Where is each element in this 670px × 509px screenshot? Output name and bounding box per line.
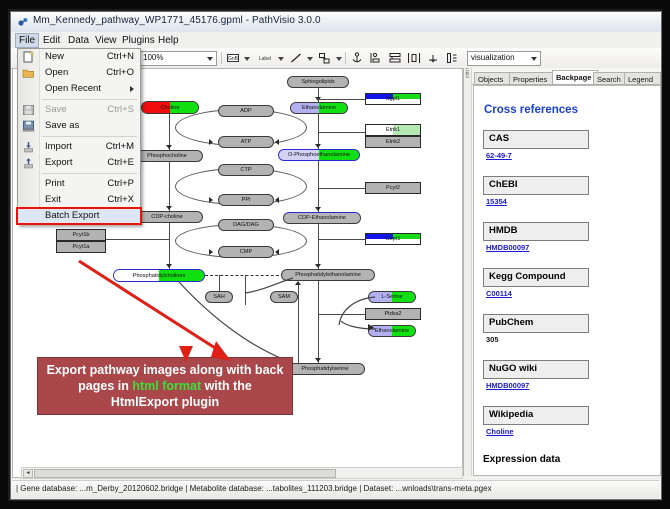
menu-item-label: Open Recent xyxy=(45,81,101,97)
zoom-combo[interactable]: 100% xyxy=(139,51,217,66)
arrowhead-icon xyxy=(209,197,213,203)
canvas-horizontal-scrollbar[interactable]: ◄ xyxy=(21,467,463,479)
gene-label: Sgpl1 xyxy=(386,96,400,102)
arrowhead-icon xyxy=(315,144,321,148)
xref-header-nugo-wiki: NuGO wiki xyxy=(483,360,589,379)
pathway-node-cdp-etn[interactable]: CDP-Ethanolamine xyxy=(283,212,361,224)
status-text: | Gene database: ...m_Derby_20120602.bri… xyxy=(16,484,492,493)
interaction-tool-icon[interactable] xyxy=(318,51,332,65)
xref-name: Kegg Compound xyxy=(489,271,566,282)
callout-line2-before: pages in xyxy=(78,379,132,393)
edge-sgpl1-to-backbone xyxy=(318,99,365,100)
arrowhead-icon xyxy=(275,249,279,255)
menu-separator xyxy=(42,173,137,174)
open-folder-icon xyxy=(22,67,35,79)
pathway-gene-sgpl1[interactable]: Sgpl1 xyxy=(365,93,421,105)
menu-item-accelerator: Ctrl+M xyxy=(106,139,134,155)
node-label: Phosphatidylserine xyxy=(301,366,348,372)
pathvisio-icon xyxy=(17,16,29,28)
horizontal-scroll-thumb[interactable] xyxy=(34,469,336,478)
arrowhead-icon xyxy=(209,139,213,145)
xref-value-chebi[interactable]: 15354 xyxy=(486,197,507,206)
menu-item-label: Exit xyxy=(45,192,61,208)
edge-etnk-to-backbone xyxy=(318,132,365,133)
svg-text:Label: Label xyxy=(259,56,271,62)
node-label: Choline xyxy=(161,105,180,111)
pathway-gene-cept1[interactable]: Cept1 xyxy=(365,233,421,245)
toolbar-separator xyxy=(345,52,346,64)
menu-item-save: SaveCtrl+S xyxy=(18,102,140,118)
submenu-arrow-icon xyxy=(130,86,134,92)
screenshot-root: Mm_Kennedy_pathway_WP1771_45176.gpml - P… xyxy=(0,0,670,509)
pathway-node-atp[interactable]: ATP xyxy=(218,136,274,148)
menu-item-label: Open xyxy=(45,65,68,81)
menu-item-export[interactable]: ExportCtrl+E xyxy=(18,155,140,171)
gene-label: Etnk1 xyxy=(386,127,400,133)
arrowhead-icon xyxy=(315,358,321,362)
side-panel: ⣿⣿ Objects Properties Backpage Search Le… xyxy=(463,68,661,476)
edge-cdpetn-ptdetn xyxy=(318,224,319,269)
menu-item-label: New xyxy=(45,49,64,65)
menu-item-accelerator: Ctrl+S xyxy=(107,102,134,118)
menu-item-accelerator: Ctrl+E xyxy=(107,155,134,171)
menu-bar: File Edit Data View Plugins Help xyxy=(11,32,661,49)
menu-edit[interactable]: Edit xyxy=(39,34,64,47)
menu-item-exit[interactable]: ExitCtrl+X xyxy=(18,192,140,208)
menu-plugins[interactable]: Plugins xyxy=(118,34,159,47)
menu-file[interactable]: File xyxy=(15,33,39,48)
gene-label: Ptdss2 xyxy=(384,311,401,317)
arrowhead-icon xyxy=(315,264,321,268)
menu-separator xyxy=(42,136,137,137)
xref-header-pubchem: PubChem xyxy=(483,314,589,333)
callout-highlight: html format xyxy=(132,379,201,393)
import-icon xyxy=(22,141,35,153)
xref-value-hmdb[interactable]: HMDB00097 xyxy=(486,243,529,252)
zoom-value: 100% xyxy=(143,53,163,62)
xref-value-cas[interactable]: 62-49-7 xyxy=(486,151,512,160)
node-label: Ethanolamine xyxy=(302,105,336,111)
cross-references-heading: Cross references xyxy=(484,104,578,116)
arrowhead-icon xyxy=(315,207,321,211)
node-label: CMP xyxy=(240,249,252,255)
save-as-icon xyxy=(22,120,35,132)
gene-label: Pcyt1a xyxy=(72,244,89,250)
pathway-node-sphingolipids[interactable]: Sphingolipids xyxy=(287,76,349,88)
menu-item-open[interactable]: OpenCtrl+O xyxy=(18,65,140,81)
group-tool-icon[interactable] xyxy=(426,51,440,65)
menu-item-label: Save xyxy=(45,102,67,118)
pathway-node-ctp[interactable]: CTP xyxy=(218,164,274,176)
svg-text:GnB: GnB xyxy=(228,56,239,62)
menu-help[interactable]: Help xyxy=(154,34,183,47)
label-tool-icon[interactable]: Label xyxy=(255,51,275,65)
gene-label: Pcyt2 xyxy=(386,185,400,191)
node-label: CDP-choline xyxy=(151,214,182,220)
callout-line3: HtmlExport plugin xyxy=(111,395,219,409)
arrowhead-icon xyxy=(166,145,172,149)
edge-serine-swap xyxy=(333,291,377,337)
xref-header-hmdb: HMDB xyxy=(483,222,589,241)
drag-dots-icon: ⣿⣿ xyxy=(465,70,469,78)
arrowhead-icon xyxy=(275,139,279,145)
menu-item-label: Export xyxy=(45,155,72,171)
xref-name: HMDB xyxy=(489,225,518,236)
xref-value-wikipedia[interactable]: Choline xyxy=(486,427,514,436)
menu-item-label: Import xyxy=(45,139,72,155)
menu-view[interactable]: View xyxy=(91,34,121,47)
node-label: Sphingolipids xyxy=(301,79,334,85)
pathway-gene-pcyt1b[interactable]: Pcyt1b xyxy=(56,229,106,241)
side-panel-drag-handle[interactable]: ⣿⣿ xyxy=(464,68,472,476)
pathvisio-window: Mm_Kennedy_pathway_WP1771_45176.gpml - P… xyxy=(10,11,662,500)
edge-pcyt1-to-backbone xyxy=(106,239,169,240)
align-stack-tool-icon[interactable] xyxy=(388,51,402,65)
distribute-tool-icon[interactable] xyxy=(407,51,421,65)
pathway-node-phosphocholine[interactable]: Phosphocholine xyxy=(131,150,203,162)
title-bar: Mm_Kennedy_pathway_WP1771_45176.gpml - P… xyxy=(11,12,661,33)
node-label: Ethanolamine xyxy=(375,328,409,334)
chevron-down-icon xyxy=(531,57,537,61)
menu-item-batch-export[interactable]: Batch Export xyxy=(18,208,140,224)
edge-ophospho-cdpetn xyxy=(318,161,319,212)
pathway-node-ppi[interactable]: PPi xyxy=(218,194,274,206)
file-menu-popup[interactable]: NewCtrl+NOpenCtrl+OOpen RecentSaveCtrl+S… xyxy=(17,48,141,225)
pathway-gene-pcyt1a[interactable]: Pcyt1a xyxy=(56,241,106,253)
menu-item-label: Save as xyxy=(45,118,79,134)
pathway-gene-pcyt2[interactable]: Pcyt2 xyxy=(365,182,421,194)
menu-item-open-recent[interactable]: Open Recent xyxy=(18,81,140,97)
node-label: Phosphocholine xyxy=(147,153,187,159)
node-label: L-Serine xyxy=(381,294,402,300)
order-tool-icon[interactable] xyxy=(445,51,459,65)
pathway-gene-etnk1[interactable]: Etnk1 xyxy=(365,124,421,136)
xref-name: NuGO wiki xyxy=(489,363,537,374)
menu-item-label: Print xyxy=(45,176,65,192)
xref-value-pubchem: 305 xyxy=(486,335,499,344)
scroll-left-arrow-icon[interactable]: ◄ xyxy=(23,469,33,478)
xref-header-chebi: ChEBI xyxy=(483,176,589,195)
side-panel-tabs: Objects Properties Backpage Search Legen… xyxy=(472,70,661,85)
expression-data-heading: Expression data xyxy=(483,454,560,465)
gene-label: Cept1 xyxy=(386,236,401,242)
node-label: PPi xyxy=(242,197,251,203)
node-label: DAG/DAG xyxy=(233,222,259,228)
backpage-content[interactable]: Cross references CAS62-49-7ChEBI15354HMD… xyxy=(473,85,661,476)
new-file-icon xyxy=(22,51,35,63)
callout-line2-after: with the xyxy=(201,379,252,393)
edge-ptdetn-ptdserine xyxy=(318,281,319,363)
save-disk-icon xyxy=(22,104,35,116)
pathway-node-ophosphoeth[interactable]: O-Phosphoethanolamine xyxy=(278,149,360,161)
edge-pcyt2-to-backbone xyxy=(318,188,365,189)
xref-name: CAS xyxy=(489,133,509,144)
interaction-dropdown-icon[interactable] xyxy=(336,57,342,61)
line-tool-icon[interactable] xyxy=(289,51,303,65)
window-title: Mm_Kennedy_pathway_WP1771_45176.gpml - P… xyxy=(33,15,321,26)
menu-item-save-as[interactable]: Save as xyxy=(18,118,140,134)
menu-data[interactable]: Data xyxy=(64,34,93,47)
line-dropdown-icon[interactable] xyxy=(307,57,313,61)
xref-name: Wikipedia xyxy=(489,409,533,420)
xref-header-wikipedia: Wikipedia xyxy=(483,406,589,425)
node-label: CTP xyxy=(240,167,251,173)
visualization-value: visualization xyxy=(471,53,515,62)
xref-name: PubChem xyxy=(489,317,533,328)
menu-item-new[interactable]: NewCtrl+N xyxy=(18,49,140,65)
xref-header-cas: CAS xyxy=(483,130,589,149)
menu-separator xyxy=(42,99,137,100)
menu-item-import[interactable]: ImportCtrl+M xyxy=(18,139,140,155)
xref-header-kegg-compound: Kegg Compound xyxy=(483,268,589,287)
menu-item-accelerator: Ctrl+N xyxy=(107,49,134,65)
menu-item-accelerator: Ctrl+O xyxy=(106,65,134,81)
pathway-gene-etnk2[interactable]: Etnk2 xyxy=(365,136,421,148)
gene-label: Etnk2 xyxy=(386,139,400,145)
pathway-node-choline-top[interactable]: Choline xyxy=(141,101,199,114)
pathway-node-adp[interactable]: ADP xyxy=(218,105,274,117)
pathway-node-dagdag[interactable]: DAG/DAG xyxy=(218,219,274,231)
menu-item-accelerator: Ctrl+P xyxy=(107,176,134,192)
anchor-tool-icon[interactable] xyxy=(350,51,364,65)
xref-value-kegg-compound[interactable]: C00114 xyxy=(486,289,512,298)
toolbar-separator xyxy=(221,52,222,64)
pathway-node-ethanolamine[interactable]: Ethanolamine xyxy=(290,102,348,114)
red-pointer-arrow-top xyxy=(173,344,203,366)
edge-phosphocholine-cdpcholine xyxy=(169,162,170,211)
datanode-dropdown-icon[interactable] xyxy=(244,57,250,61)
label-dropdown-icon[interactable] xyxy=(278,57,284,61)
edge-cept1-to-backbone xyxy=(318,239,365,240)
highlight-box xyxy=(16,207,142,225)
visualization-combo[interactable]: visualization xyxy=(467,51,541,66)
menu-item-accelerator: Ctrl+X xyxy=(107,192,134,208)
align-left-tool-icon[interactable] xyxy=(369,51,383,65)
chevron-down-icon xyxy=(207,57,213,61)
arrowhead-icon xyxy=(209,249,213,255)
export-icon xyxy=(22,157,35,169)
xref-name: ChEBI xyxy=(489,179,518,190)
node-label: Phosphatidylethanolamine xyxy=(295,272,361,278)
node-label: CDP-Ethanolamine xyxy=(298,215,346,221)
xref-value-nugo-wiki[interactable]: HMDB00097 xyxy=(486,381,529,390)
menu-item-print[interactable]: PrintCtrl+P xyxy=(18,176,140,192)
status-bar: | Gene database: ...m_Derby_20120602.bri… xyxy=(12,480,659,498)
node-label: O-Phosphoethanolamine xyxy=(288,152,350,158)
datanode-tool-icon[interactable]: GnB xyxy=(226,51,240,65)
node-label: ATP xyxy=(241,139,251,145)
arrowhead-icon xyxy=(275,197,279,203)
node-label: ADP xyxy=(240,108,252,114)
arrowhead-icon xyxy=(166,206,172,210)
gene-label: Pcyt1b xyxy=(72,232,89,238)
